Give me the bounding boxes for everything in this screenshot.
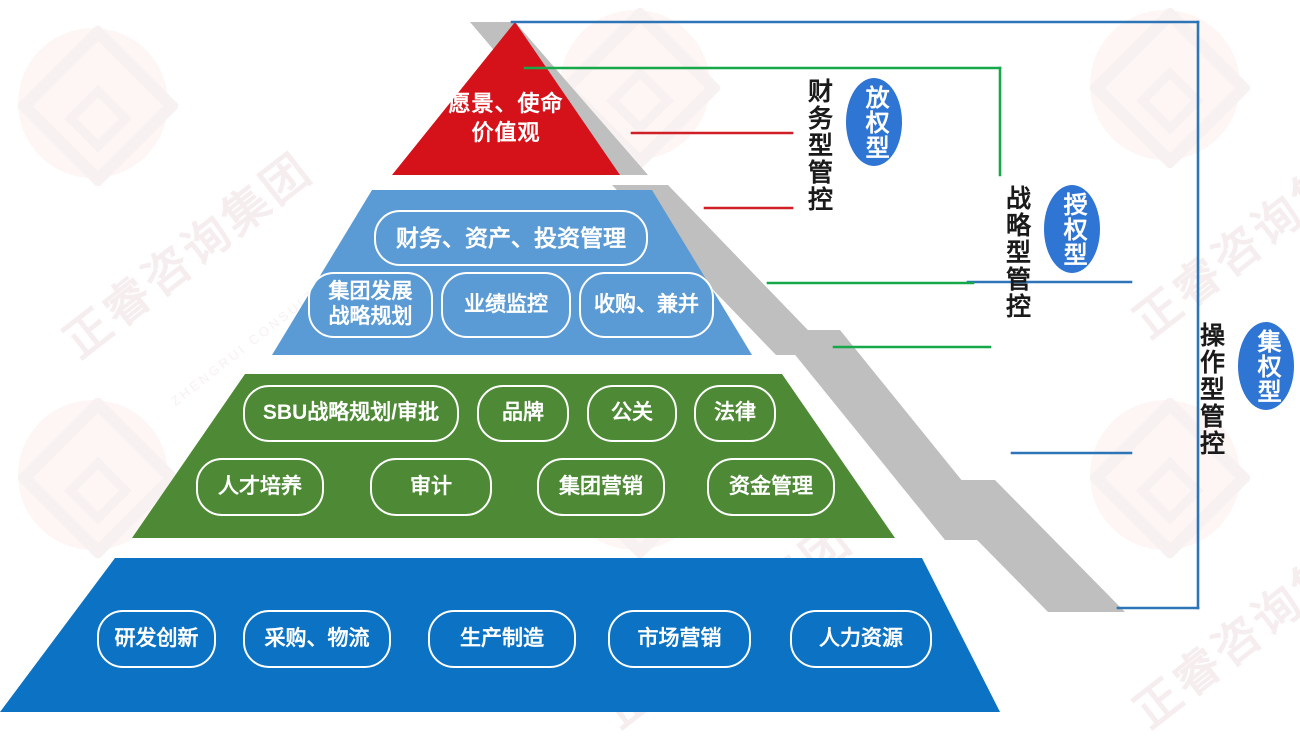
tier2-pill-ma[interactable]: 收购、兼并 — [579, 272, 714, 338]
tier3-pill-brand[interactable]: 品牌 — [477, 385, 569, 442]
apex-line-1: 愿景、使命 — [448, 91, 563, 116]
control-mode-badge-delegated[interactable]: 授权型 — [1044, 185, 1100, 273]
tier3-pill-group-marketing[interactable]: 集团营销 — [537, 458, 665, 516]
apex-label: 愿景、使命价值观 — [392, 90, 620, 147]
bracket-operational-inner — [968, 282, 1131, 453]
tier4-pill-procurement[interactable]: 采购、物流 — [243, 610, 391, 668]
tier4-pill-marketing[interactable]: 市场营销 — [608, 610, 751, 668]
control-mode-label-strategic: 战略型管控 — [998, 185, 1035, 320]
tier4-pill-rd[interactable]: 研发创新 — [97, 610, 216, 668]
tier3-pill-legal[interactable]: 法律 — [694, 385, 776, 442]
apex-line-2: 价值观 — [471, 120, 540, 145]
tier3-pill-fund-mgmt[interactable]: 资金管理 — [707, 458, 835, 516]
control-mode-badge-decentralized[interactable]: 放权型 — [846, 78, 902, 166]
control-mode-badge-centralized[interactable]: 集权型 — [1238, 322, 1294, 410]
tier2-pill-performance[interactable]: 业绩监控 — [441, 272, 571, 338]
tier3-pill-talent[interactable]: 人才培养 — [196, 458, 324, 516]
tier3-pill-sbu-strategy[interactable]: SBU战略规划/审批 — [243, 385, 459, 442]
control-mode-label-operational: 操作型管控 — [1192, 322, 1229, 457]
tier4-shadow — [918, 480, 1125, 612]
tier4-pill-manufacturing[interactable]: 生产制造 — [428, 610, 576, 668]
tier4-pill-hr[interactable]: 人力资源 — [790, 610, 932, 668]
tier2-pill-group-strategy-label: 集团发展 战略规划 — [329, 280, 413, 330]
tier3-pill-pr[interactable]: 公关 — [587, 385, 677, 442]
tier3-pill-audit[interactable]: 审计 — [370, 458, 492, 516]
tier2-pill-finance[interactable]: 财务、资产、投资管理 — [374, 210, 648, 266]
diagram-canvas: 正睿咨询集团 ZHENGRUI CONSULTING 正睿咨询集团 正睿咨询集团… — [0, 0, 1300, 747]
control-mode-label-financial: 财务型管控 — [800, 78, 837, 213]
tier2-pill-group-strategy[interactable]: 集团发展 战略规划 — [308, 272, 433, 338]
